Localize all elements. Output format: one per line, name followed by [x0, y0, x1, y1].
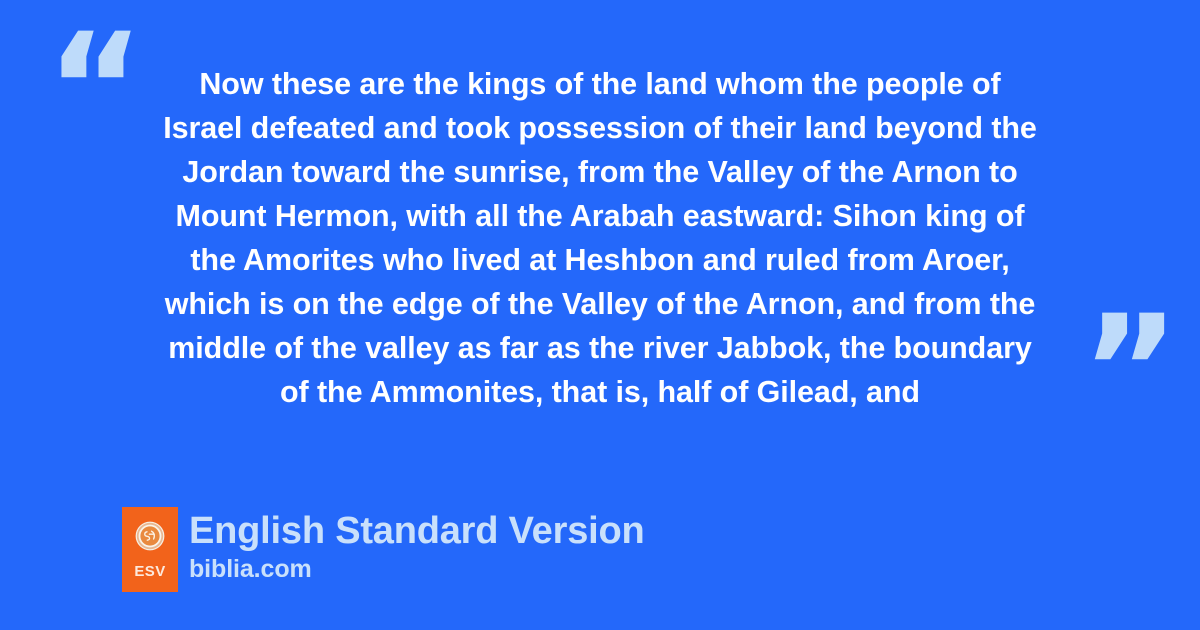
esv-logo-abbreviation: ESV — [134, 564, 165, 579]
closing-quote-icon: ” — [1081, 296, 1180, 446]
esv-seal-icon — [135, 521, 165, 551]
verse-card: “ Now these are the kings of the land wh… — [0, 0, 1200, 630]
attribution-text: English Standard Version biblia.com — [189, 507, 645, 584]
site-name: biblia.com — [189, 554, 645, 584]
quote-text: Now these are the kings of the land whom… — [114, 62, 1086, 414]
attribution-footer: ESV English Standard Version biblia.com — [122, 507, 645, 592]
bible-version-name: English Standard Version — [189, 508, 645, 554]
esv-logo: ESV — [122, 507, 178, 592]
quote-block: Now these are the kings of the land whom… — [114, 62, 1086, 414]
